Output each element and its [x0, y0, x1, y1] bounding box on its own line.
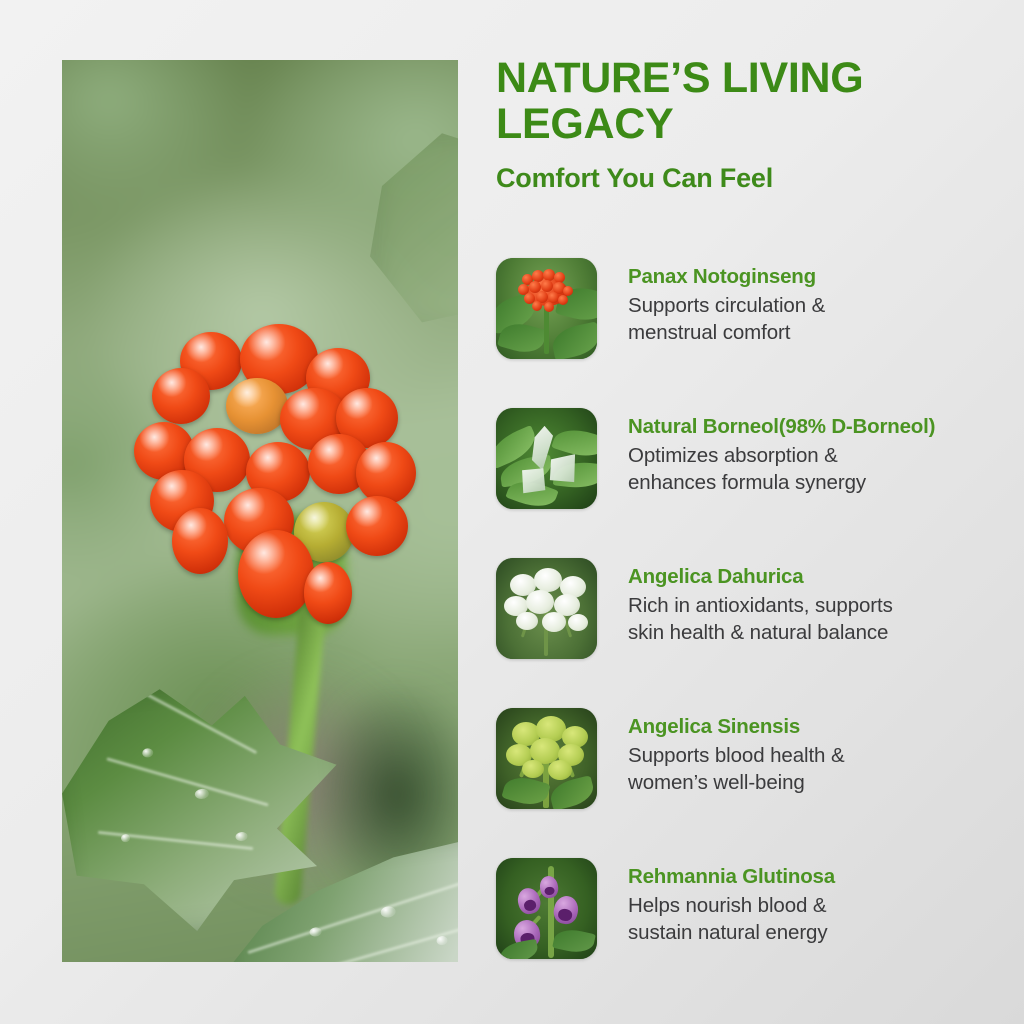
ingredient-text: Panax Notoginseng Supports circulation &… — [628, 258, 825, 347]
ingredient-description-line2: skin health & natural balance — [628, 619, 893, 646]
photo-berry-cluster — [128, 330, 418, 650]
ingredient-thumbnail-natural-borneol — [496, 408, 597, 509]
page-title: NATURE’S LIVING LEGACY — [496, 56, 1006, 147]
hero-photo — [62, 60, 458, 962]
ingredient-description-line1: Optimizes absorption & — [628, 442, 935, 469]
ingredient-list: Panax Notoginseng Supports circulation &… — [496, 258, 1016, 1008]
ingredient-description-line1: Rich in antioxidants, supports — [628, 592, 893, 619]
ingredient-name: Natural Borneol(98% D-Borneol) — [628, 414, 935, 440]
ingredient-description-line1: Supports blood health & — [628, 742, 845, 769]
ingredient-description: Optimizes absorption & enhances formula … — [628, 442, 935, 497]
ingredient-description-line2: enhances formula synergy — [628, 469, 935, 496]
ingredient-thumbnail-angelica-sinensis — [496, 708, 597, 809]
ingredient-text: Natural Borneol(98% D-Borneol) Optimizes… — [628, 408, 935, 497]
ingredient-text: Angelica Sinensis Supports blood health … — [628, 708, 845, 797]
ingredient-name: Angelica Sinensis — [628, 714, 845, 740]
ingredient-description: Rich in antioxidants, supports skin heal… — [628, 592, 893, 647]
ingredient-thumbnail-panax-notoginseng — [496, 258, 597, 359]
ingredient-description-line2: menstrual comfort — [628, 319, 825, 346]
ingredient-text: Rehmannia Glutinosa Helps nourish blood … — [628, 858, 835, 947]
ingredient-name: Rehmannia Glutinosa — [628, 864, 835, 890]
ingredient-description-line2: sustain natural energy — [628, 919, 835, 946]
content-column: NATURE’S LIVING LEGACY Comfort You Can F… — [496, 56, 1006, 194]
ingredient-description: Helps nourish blood & sustain natural en… — [628, 892, 835, 947]
ingredient-thumbnail-rehmannia-glutinosa — [496, 858, 597, 959]
ingredient-text: Angelica Dahurica Rich in antioxidants, … — [628, 558, 893, 647]
list-item: Angelica Dahurica Rich in antioxidants, … — [496, 558, 1016, 708]
ingredient-description-line2: women’s well-being — [628, 769, 845, 796]
ingredient-thumbnail-angelica-dahurica — [496, 558, 597, 659]
ingredient-name: Panax Notoginseng — [628, 264, 825, 290]
list-item: Panax Notoginseng Supports circulation &… — [496, 258, 1016, 408]
ingredient-description-line1: Supports circulation & — [628, 292, 825, 319]
list-item: Angelica Sinensis Supports blood health … — [496, 708, 1016, 858]
ingredient-description-line1: Helps nourish blood & — [628, 892, 835, 919]
ingredient-description: Supports blood health & women’s well-bei… — [628, 742, 845, 797]
ingredient-name: Angelica Dahurica — [628, 564, 893, 590]
ingredient-description: Supports circulation & menstrual comfort — [628, 292, 825, 347]
page-subtitle: Comfort You Can Feel — [496, 163, 1006, 194]
list-item: Rehmannia Glutinosa Helps nourish blood … — [496, 858, 1016, 1008]
list-item: Natural Borneol(98% D-Borneol) Optimizes… — [496, 408, 1016, 558]
